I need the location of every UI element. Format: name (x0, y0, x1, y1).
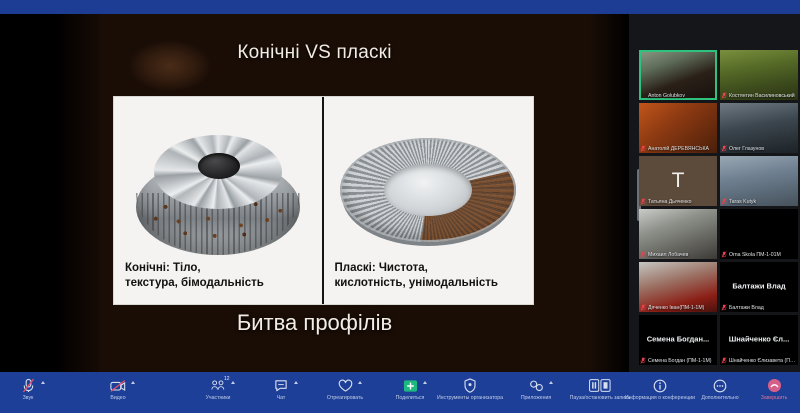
mic-muted-icon (721, 198, 727, 205)
mic-muted-icon (640, 304, 646, 311)
participant-tile[interactable]: TТатьяна Дьяченко (639, 156, 717, 206)
participants-count-badge: 12 (224, 376, 230, 382)
chevron-up-icon[interactable] (41, 381, 45, 384)
meeting-toolbar: ЗвукВидео12УчастникиЧатОтреагироватьПоде… (0, 372, 800, 413)
participant-tile[interactable]: Шнайченко Єл...Шнайченко Єлизавета (Пм..… (720, 315, 798, 365)
toolbar-button-reactions[interactable]: Отреагировать (315, 377, 375, 401)
host-tools-icon (463, 377, 477, 394)
participant-name-label: Михаил Лобачев (641, 252, 715, 258)
toolbar-button-label: Отреагировать (327, 396, 363, 401)
conical-caption-line1: Конічні: Тіло, (125, 261, 314, 277)
participant-tile[interactable]: Дяченко Іван(ПМ-1-1М) (639, 262, 717, 312)
mic-muted-icon (721, 357, 727, 364)
gallery-scrollbar-track[interactable] (633, 14, 637, 372)
participant-name-label: Татьяна Дьяченко (641, 199, 715, 205)
end-meeting-button[interactable]: Завершить (748, 377, 800, 401)
end-meeting-label: Завершить (761, 396, 788, 401)
toolbar-button-label: Информация о конференции (625, 396, 695, 401)
toolbar-button-camera-muted[interactable]: Видео (88, 377, 148, 401)
participants-icon: 12 (211, 377, 225, 394)
participant-tile[interactable]: Анатолій ДЕРЕВЯНСЬКА (639, 103, 717, 153)
mic-muted-icon (721, 251, 727, 258)
participant-name-label: Orna Skola ПМ-1-01М (722, 252, 796, 258)
mic-muted-icon (721, 145, 727, 152)
slide-title: Конічні VS пласкі (0, 42, 629, 64)
share-screen-icon (403, 377, 418, 394)
participant-centered-name: Балтажи Влад (720, 282, 798, 291)
mic-muted-icon (721, 92, 727, 99)
chevron-up-icon[interactable] (423, 381, 427, 384)
chevron-up-icon[interactable] (549, 381, 553, 384)
microphone-muted-icon (22, 377, 35, 394)
mic-muted-icon (640, 145, 646, 152)
toolbar-button-label: Звук (23, 396, 34, 401)
toolbar-button-label: Дополнительно (701, 396, 738, 401)
participant-tile[interactable]: Михаил Лобачев (639, 209, 717, 259)
chat-icon (274, 377, 288, 394)
more-icon (713, 377, 727, 394)
toolbar-button-participants[interactable]: 12Участники (188, 377, 248, 401)
mic-muted-icon (640, 357, 646, 364)
apps-icon (529, 377, 544, 394)
participant-centered-name: Шнайченко Єл... (720, 335, 798, 344)
flat-burr-photo (340, 138, 516, 250)
slide-footer: Битва профілів (0, 310, 629, 336)
toolbar-button-label: Пауза/остановить запись (570, 396, 631, 401)
toolbar-button-microphone-muted[interactable]: Звук (0, 377, 58, 401)
conical-burr-photo (128, 131, 308, 261)
chevron-up-icon[interactable] (294, 381, 298, 384)
toolbar-button-label: Чат (277, 396, 286, 401)
participant-name-label: Костянтин Василиновський (722, 93, 796, 99)
reactions-icon (338, 377, 353, 394)
participant-tile[interactable]: Балтажи ВладБалтажи Влад (720, 262, 798, 312)
participant-tile[interactable]: Taras Kutyk (720, 156, 798, 206)
participant-name-label: Олег Глазунов (722, 146, 796, 152)
participant-tile[interactable]: Костянтин Василиновський (720, 50, 798, 100)
toolbar-button-share-screen[interactable]: Поделиться (380, 377, 440, 401)
mic-muted-icon (721, 304, 727, 311)
toolbar-button-label: Инструменты организатора (437, 396, 503, 401)
window-top-band (0, 0, 800, 14)
comparison-card: Конічні: Тіло, текстура, бімодальність П… (113, 96, 534, 305)
flat-caption-line2: кислотність, унімодальність (335, 276, 526, 292)
mic-muted-icon (640, 251, 646, 258)
toolbar-button-label: Поделиться (396, 396, 425, 401)
chevron-up-icon[interactable] (131, 381, 135, 384)
zoom-meeting-window: Конічні VS пласкі Конічні: Тіло, текстур… (0, 0, 800, 413)
mic-muted-icon (640, 198, 646, 205)
conical-caption: Конічні: Тіло, текстура, бімодальність (114, 261, 322, 304)
participant-name-label: Анатолій ДЕРЕВЯНСЬКА (641, 146, 715, 152)
toolbar-button-info[interactable]: Информация о конференции (630, 377, 690, 401)
shared-screen-stage[interactable]: Конічні VS пласкі Конічні: Тіло, текстур… (0, 14, 629, 372)
comparison-half-conical: Конічні: Тіло, текстура, бімодальність (114, 97, 324, 304)
participant-tile[interactable]: Семена Богдан...Семена Богдан (ПМ-1-1М) (639, 315, 717, 365)
chevron-up-icon[interactable] (358, 381, 362, 384)
toolbar-button-label: Видео (110, 396, 125, 401)
flat-caption: Пласкі: Чистота, кислотність, унімодальн… (324, 261, 534, 304)
toolbar-button-more[interactable]: Дополнительно (690, 377, 750, 401)
toolbar-button-label: Участники (206, 396, 231, 401)
conical-burr-bore (198, 153, 240, 179)
toolbar-button-apps[interactable]: Приложения (506, 377, 566, 401)
participant-tile[interactable]: Олег Глазунов (720, 103, 798, 153)
pause-stop-record-icon (589, 377, 611, 394)
participant-tiles: Anton GolubkovКостянтин ВасилиновськийАн… (639, 50, 800, 365)
camera-muted-icon (110, 377, 126, 394)
toolbar-button-label: Приложения (521, 396, 551, 401)
end-call-icon (767, 377, 782, 394)
participants-gallery-panel[interactable]: Anton GolubkovКостянтин ВасилиновськийАн… (629, 14, 800, 372)
toolbar-button-host-tools[interactable]: Инструменты организатора (440, 377, 500, 401)
participant-name-label: Балтажи Влад (722, 305, 796, 311)
participant-name-label: Дяченко Іван(ПМ-1-1М) (641, 305, 715, 311)
presentation-slide: Конічні VS пласкі Конічні: Тіло, текстур… (0, 14, 629, 372)
comparison-half-flat: Пласкі: Чистота, кислотність, унімодальн… (324, 97, 534, 304)
participant-tile[interactable]: Anton Golubkov (639, 50, 717, 100)
participant-centered-name: Семена Богдан... (639, 335, 717, 344)
participant-name-label: Taras Kutyk (722, 199, 796, 205)
chevron-up-icon[interactable] (231, 381, 235, 384)
toolbar-button-chat[interactable]: Чат (251, 377, 311, 401)
participant-name-label: Семена Богдан (ПМ-1-1М) (641, 358, 715, 364)
conical-caption-line2: текстура, бімодальність (125, 276, 314, 292)
participant-name-label: Anton Golubkov (641, 93, 715, 99)
flat-caption-line1: Пласкі: Чистота, (335, 261, 526, 277)
flat-burr-center-hole (384, 164, 472, 216)
participant-name-label: Шнайченко Єлизавета (Пм... (722, 358, 796, 364)
info-icon (653, 377, 667, 394)
toolbar-button-pause-stop-record[interactable]: Пауза/остановить запись (570, 377, 630, 401)
participant-tile[interactable]: Orna Skola ПМ-1-01М (720, 209, 798, 259)
